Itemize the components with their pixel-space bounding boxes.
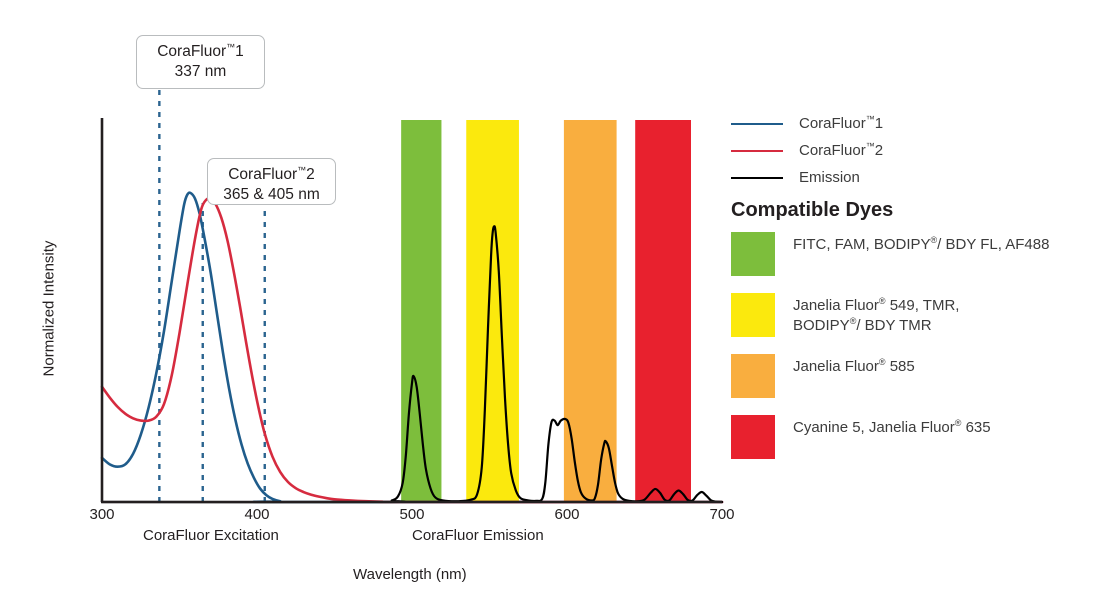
dye-color-swatch	[731, 232, 775, 276]
legend-item-label: CoraFluor™2	[799, 142, 883, 159]
x-tick-label: 500	[382, 506, 442, 523]
legend-item-corafluor1: CoraFluor™1	[731, 110, 1091, 137]
dye-band	[635, 120, 691, 502]
compatible-dyes-legend: FITC, FAM, BODIPY®/ BDY FL, AF488 Janeli…	[731, 232, 1101, 476]
emission-section-label: CoraFluor Emission	[412, 527, 544, 544]
dye-label: Cyanine 5, Janelia Fluor® 635	[793, 415, 991, 438]
legend-line-swatch	[731, 150, 783, 152]
legend-item-label: Emission	[799, 169, 860, 186]
y-axis-title: Normalized Intensity	[41, 229, 58, 389]
x-tick-label: 400	[227, 506, 287, 523]
callout1-value: 337 nm	[147, 62, 254, 82]
dye-label: Janelia Fluor® 585	[793, 354, 915, 377]
compatible-dyes-title: Compatible Dyes	[731, 199, 893, 222]
dye-color-swatch	[731, 415, 775, 459]
legend-item-corafluor2: CoraFluor™2	[731, 137, 1091, 164]
x-tick-label: 300	[72, 506, 132, 523]
dye-label: Janelia Fluor® 549, TMR, BODIPY®/ BDY TM…	[793, 293, 959, 336]
dye-color-swatch	[731, 293, 775, 337]
legend-item-label: CoraFluor™1	[799, 115, 883, 132]
callout1-title: CoraFluor™1	[147, 42, 254, 62]
x-tick-label: 600	[537, 506, 597, 523]
dye-color-swatch	[731, 354, 775, 398]
excitation-section-label: CoraFluor Excitation	[143, 527, 279, 544]
series-legend: CoraFluor™1 CoraFluor™2 Emission	[731, 110, 1091, 191]
dye-row: Cyanine 5, Janelia Fluor® 635	[731, 415, 1101, 459]
callout-corafluor2: CoraFluor™2 365 & 405 nm	[207, 158, 336, 205]
legend-item-emission: Emission	[731, 164, 1091, 191]
callout-corafluor1: CoraFluor™1 337 nm	[136, 35, 265, 89]
dye-row: Janelia Fluor® 585	[731, 354, 1101, 398]
legend-line-swatch	[731, 123, 783, 125]
dye-band	[466, 120, 519, 502]
dye-row: FITC, FAM, BODIPY®/ BDY FL, AF488	[731, 232, 1101, 276]
x-axis-title: Wavelength (nm)	[353, 566, 467, 583]
x-tick-label: 700	[692, 506, 752, 523]
dye-label: FITC, FAM, BODIPY®/ BDY FL, AF488	[793, 232, 1049, 255]
dye-row: Janelia Fluor® 549, TMR, BODIPY®/ BDY TM…	[731, 293, 1101, 337]
callout2-title: CoraFluor™2	[218, 165, 325, 185]
legend-line-swatch	[731, 177, 783, 179]
callout2-value: 365 & 405 nm	[218, 185, 325, 205]
